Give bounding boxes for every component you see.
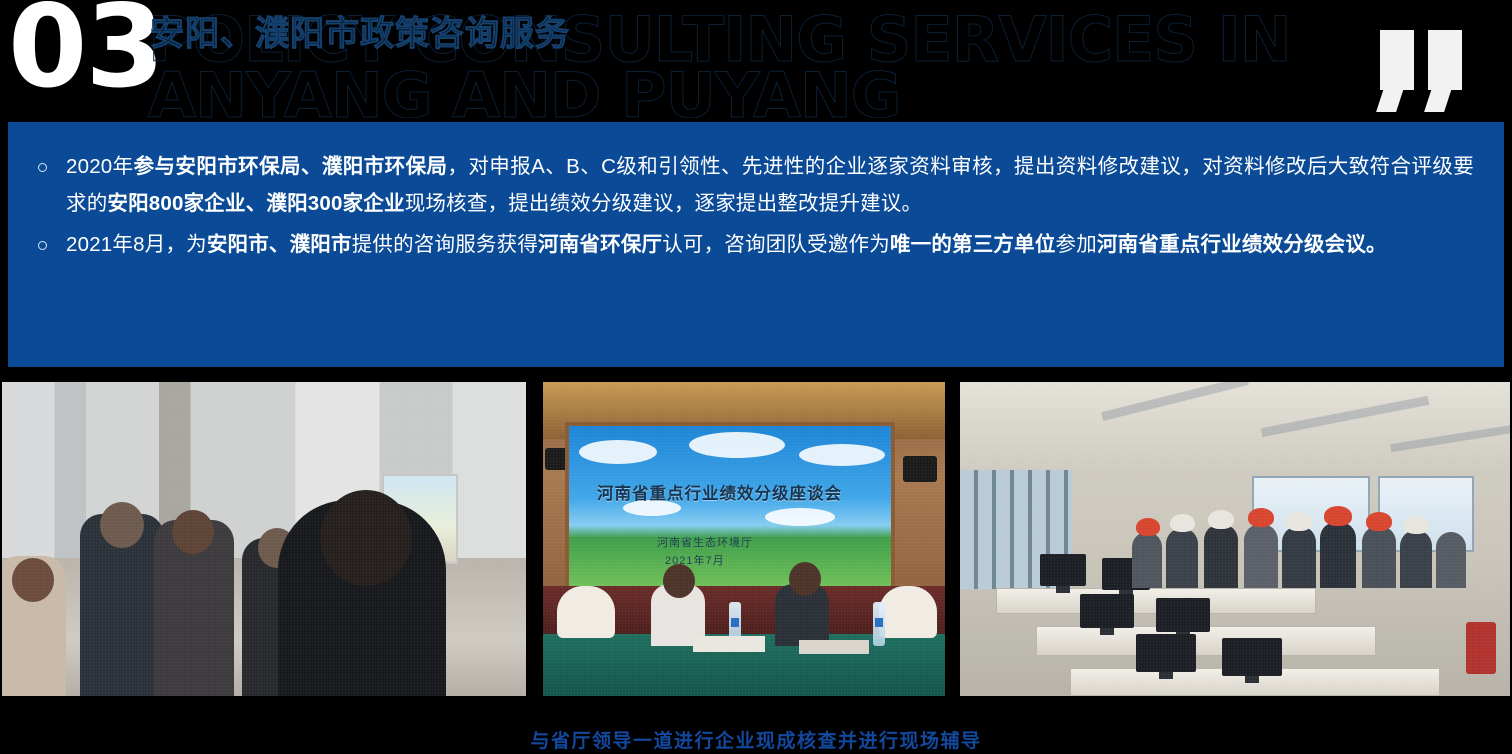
screen-organization: 河南省生态环境厅 [657,534,753,550]
photo-strip: 河南省重点行业绩效分级座谈会 河南省生态环境厅 2021年7月 [0,382,1512,696]
bullet-plain: 2020年 [66,155,134,178]
bullet-plain: 参加 [1056,233,1097,256]
hollow-circle-bullet-icon [38,226,66,263]
content-panel: 2020年参与安阳市环保局、濮阳市环保局，对申报A、B、C级和引领性、先进性的企… [8,122,1504,367]
section-number: 03 [8,0,163,104]
bullet-plain: 认可，咨询团队受邀作为 [662,233,890,256]
bullet-emphasis: 安阳800家企业、濮阳300家企业 [107,192,404,215]
photo-caption: 与省厅领导一道进行企业现成核查并进行现场辅导 [0,726,1512,753]
bullet-item: 2021年8月，为安阳市、濮阳市提供的咨询服务获得河南省环保厅认可，咨询团队受邀… [38,226,1474,263]
presentation-screen: 河南省重点行业绩效分级座谈会 河南省生态环境厅 2021年7月 [565,422,895,590]
page-title: 安阳、濮阳市政策咨询服务 [150,14,570,54]
screen-title: 河南省重点行业绩效分级座谈会 [597,480,877,504]
bullet-emphasis: 唯一的第三方单位 [890,233,1056,256]
bullet-plain: 现场核查，提出绩效分级建议，逐家提出整改提升建议。 [405,192,923,215]
bullet-item: 2020年参与安阳市环保局、濮阳市环保局，对申报A、B、C级和引领性、先进性的企… [38,148,1474,222]
bullet-emphasis: 参与安阳市环保局、濮阳市环保局 [134,155,448,178]
bullet-emphasis: 安阳市、濮阳市 [207,233,352,256]
bullet-plain: 2021年8月，为 [66,233,207,256]
slide-header: 03 POLICY CONSULTING SERVICES IN ANYANG … [0,0,1512,118]
hollow-circle-bullet-icon [38,148,66,222]
slide-root: 03 POLICY CONSULTING SERVICES IN ANYANG … [0,0,1512,754]
english-title-line-2: ANYANG AND PUYANG [148,68,1508,118]
bullet-list: 2020年参与安阳市环保局、濮阳市环保局，对申报A、B、C级和引领性、先进性的企… [38,148,1474,263]
bullet-emphasis: 河南省重点行业绩效分级会议。 [1097,233,1387,256]
photo-control-room-training [960,382,1510,696]
bullet-plain: 提供的咨询服务获得 [352,233,538,256]
photo-site-inspection-corridor [2,382,526,696]
bullet-text: 2020年参与安阳市环保局、濮阳市环保局，对申报A、B、C级和引领性、先进性的企… [66,148,1474,222]
bullet-text: 2021年8月，为安阳市、濮阳市提供的咨询服务获得河南省环保厅认可，咨询团队受邀… [66,226,1474,263]
closing-quote-icon [1366,30,1486,100]
photo-conference-screen: 河南省重点行业绩效分级座谈会 河南省生态环境厅 2021年7月 [543,382,945,696]
bullet-emphasis: 河南省环保厅 [538,233,662,256]
